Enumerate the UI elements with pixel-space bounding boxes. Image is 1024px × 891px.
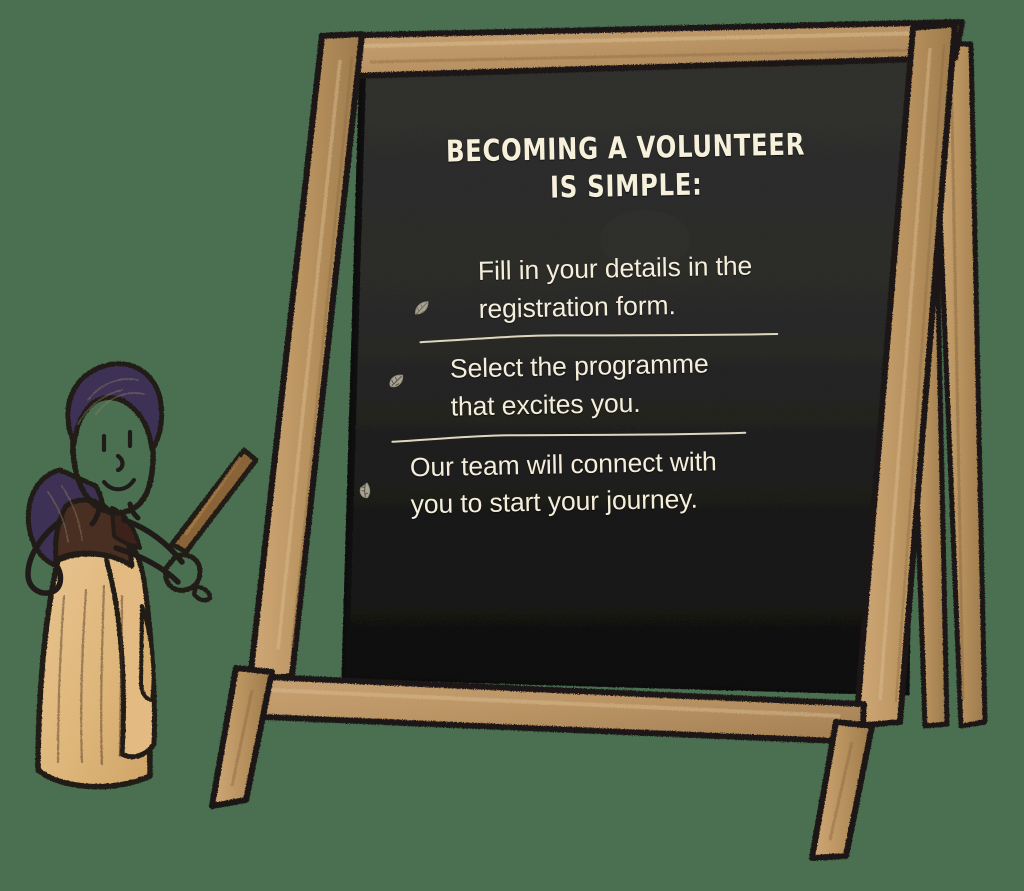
step-1-text: Fill in your details in the registration…	[478, 244, 921, 328]
heading-line-2: is simple:	[356, 163, 897, 212]
illustration-canvas: Becoming a Volunteer is simple: Fill in …	[0, 0, 1024, 891]
step-item-1: Fill in your details in the registration…	[328, 244, 929, 331]
chalk-leaf-icon	[411, 298, 433, 320]
chalk-leaf-icon	[386, 372, 408, 394]
chalk-leaf-icon	[354, 480, 376, 502]
teacher-character	[28, 364, 256, 787]
chalkboard-text-content: Becoming a Volunteer is simple: Fill in …	[324, 54, 936, 686]
step-3-text: Our team will connect with you to start …	[410, 439, 929, 525]
pointer-stick	[172, 450, 256, 552]
step-2-text: Select the programme that excites you.	[450, 341, 923, 426]
character-face-features	[104, 432, 134, 489]
step-item-2: Select the programme that excites you.	[330, 341, 931, 428]
board-heading: Becoming a Volunteer is simple:	[355, 125, 896, 213]
heading-line-1: Becoming a Volunteer	[446, 127, 806, 169]
step-item-3: Our team will connect with you to start …	[332, 438, 933, 525]
steps-list: Fill in your details in the registration…	[328, 244, 933, 526]
easel-front-left-leg	[212, 668, 272, 806]
